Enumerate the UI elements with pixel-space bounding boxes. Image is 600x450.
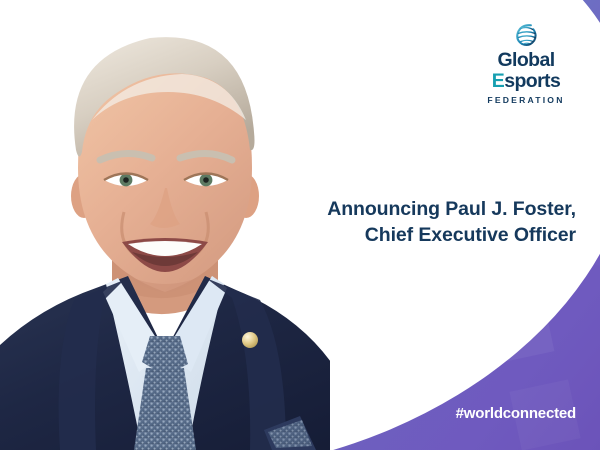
global-esports-federation-logo: Global Esports FEDERATION [474,22,578,105]
headline-line-2: Chief Executive Officer [276,222,576,248]
hashtag: #worldconnected [456,405,576,422]
logo-accent-letter: E [492,70,504,92]
announcement-graphic: Announcing Paul J. Foster, Chief Executi… [0,0,600,450]
headline: Announcing Paul J. Foster, Chief Executi… [276,196,576,248]
headline-line-1: Announcing Paul J. Foster, [276,196,576,222]
globe-icon [513,22,539,48]
logo-tagline: FEDERATION [474,96,578,105]
logo-word-esports-rest: sports [504,70,560,92]
logo-word-global: Global [474,51,578,71]
logo-word-esports: Esports [474,72,578,92]
